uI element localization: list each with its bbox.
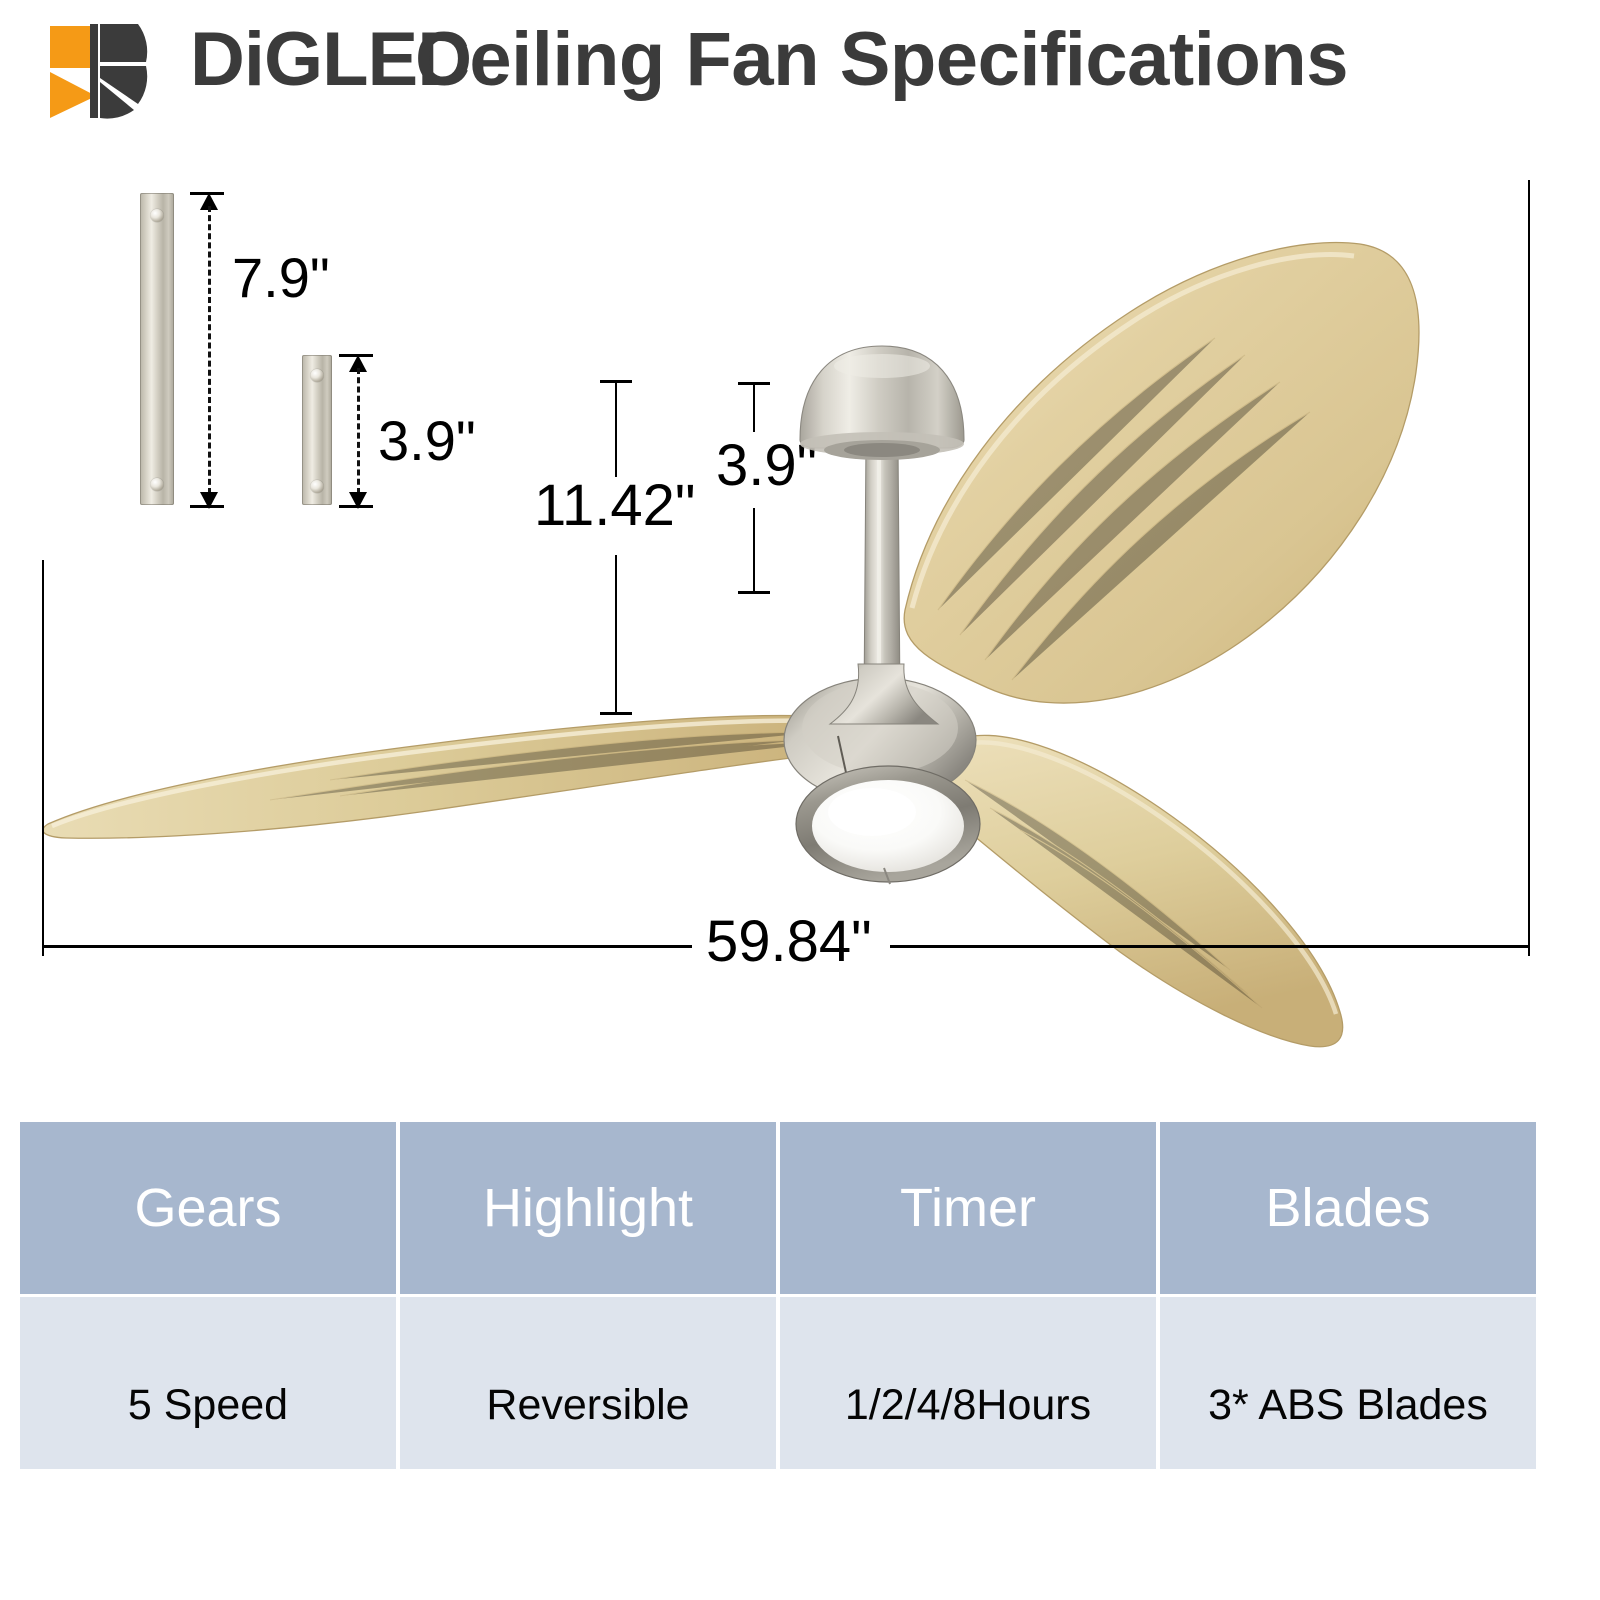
table-header-cell-blades: Blades [1160,1122,1536,1294]
fan-downrod [864,440,900,700]
cell-value: 3* ABS Blades [1208,1384,1488,1427]
table-header-cell-timer: Timer [780,1122,1156,1294]
dim-label-blade-span: 59.84" [706,908,872,975]
table-header-cell-gears: Gears [20,1122,396,1294]
table-row: 5 Speed Reversible 1/2/4/8Hours 3* ABS B… [20,1297,1536,1469]
table-cell-highlight-value: Reversible [400,1297,776,1469]
table-header-cell-highlight: Highlight [400,1122,776,1294]
cell-value: Reversible [486,1384,689,1427]
digled-logo-icon [42,18,192,122]
cell-value: 1/2/4/8Hours [845,1384,1091,1427]
table-cell-blades-value: 3* ABS Blades [1160,1297,1536,1469]
span-extension-right [1528,180,1530,956]
page-header: DiGLED Ceiling Fan Specifications [0,0,1600,140]
table-cell-timer-value: 1/2/4/8Hours [780,1297,1156,1469]
specification-sheet: DiGLED Ceiling Fan Specifications 7.9" 3… [0,0,1600,1600]
specification-table: Gears Highlight Timer Blades 5 Speed Rev… [20,1122,1536,1469]
column-header-label: Highlight [483,1181,693,1235]
page-title: Ceiling Fan Specifications [415,16,1348,103]
span-line-left [42,945,692,948]
span-line-right [890,945,1530,948]
column-header-label: Blades [1265,1181,1430,1235]
column-header-label: Timer [900,1181,1036,1235]
table-header-row: Gears Highlight Timer Blades [20,1122,1536,1294]
table-cell-gears-value: 5 Speed [20,1297,396,1469]
fan-diagram: 7.9" 3.9" 11.42" 3.9" [0,140,1600,1070]
cell-value: 5 Speed [128,1384,288,1427]
column-header-label: Gears [134,1181,281,1235]
span-extension-left [42,560,44,956]
